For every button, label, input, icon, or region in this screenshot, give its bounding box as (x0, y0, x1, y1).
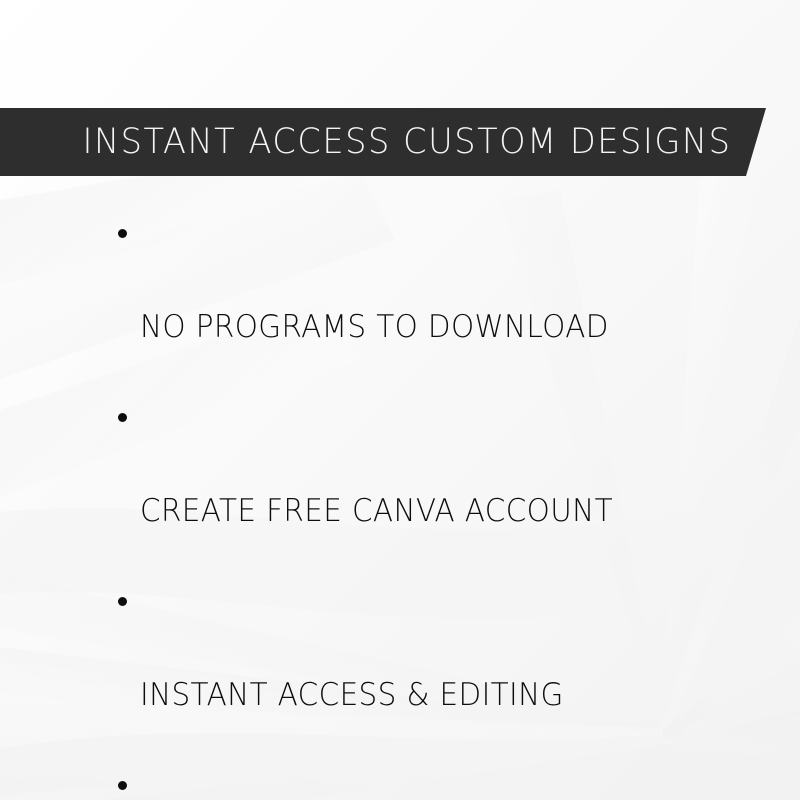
list-item-label: NO PROGRAMS TO DOWNLOAD (140, 304, 767, 350)
feature-list: NO PROGRAMS TO DOWNLOAD CREATE FREE CANV… (0, 212, 800, 800)
page-title: INSTANT ACCESS CUSTOM DESIGNS (0, 125, 731, 160)
bullet-icon (118, 229, 127, 238)
list-item: INSTANT ACCESS & EDITING (0, 580, 800, 764)
list-item: NO PROGRAMS TO DOWNLOAD (0, 212, 800, 396)
bullet-icon (118, 597, 127, 606)
list-item: CREATE FREE CANVA ACCOUNT (0, 396, 800, 580)
list-item-label: INSTANT ACCESS & EDITING (140, 672, 767, 718)
bullet-icon (118, 781, 127, 790)
bullet-icon (118, 413, 127, 422)
banner: INSTANT ACCESS CUSTOM DESIGNS (0, 108, 766, 176)
list-item: EDIT ON ANY DEVICE (0, 764, 800, 800)
list-item-label: CREATE FREE CANVA ACCOUNT (140, 488, 767, 534)
promo-graphic: INSTANT ACCESS CUSTOM DESIGNS NO PROGRAM… (0, 0, 800, 800)
